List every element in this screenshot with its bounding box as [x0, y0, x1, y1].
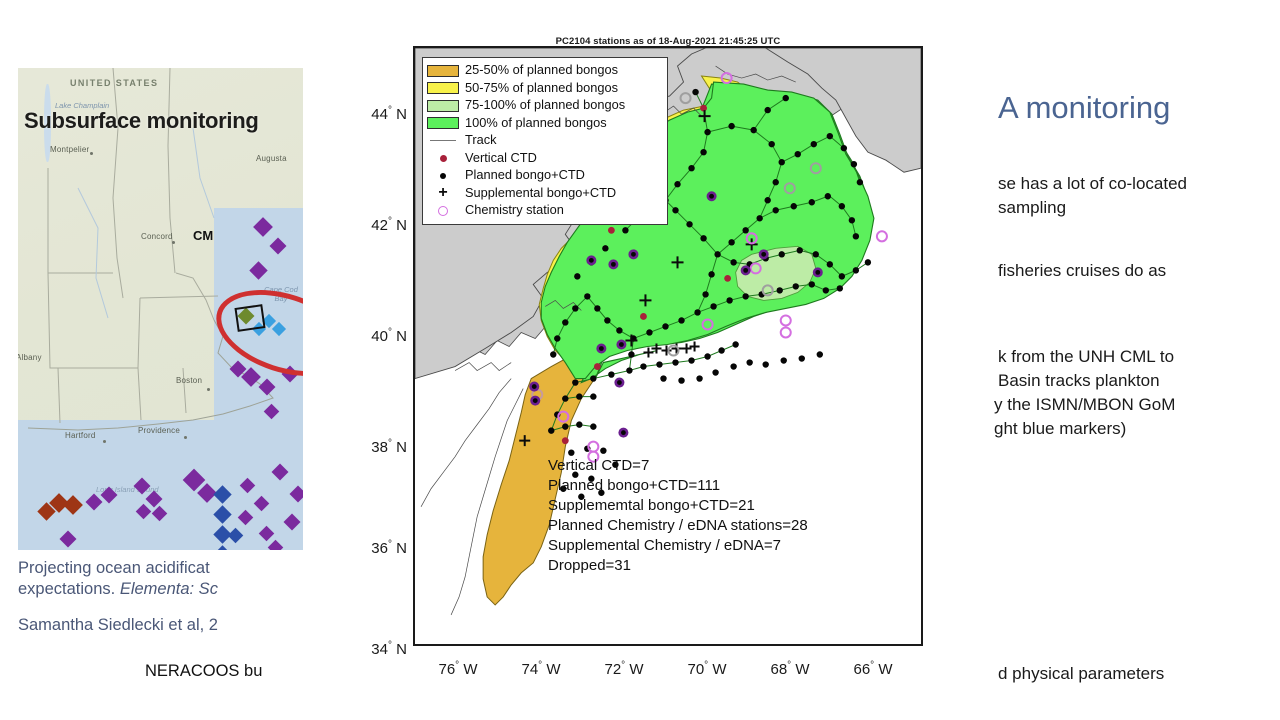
citydot-boston	[207, 388, 210, 391]
citydot-concord	[172, 241, 175, 244]
bullet-1-line-1: se has a lot of co-located	[998, 172, 1187, 196]
citydot-providence	[184, 436, 187, 439]
legend-row-patch: 25-50% of planned bongos	[427, 62, 662, 80]
legend-row-supplemental-bongo: + Supplemental bongo+CTD	[427, 185, 662, 203]
legend-swatch-50-75	[427, 82, 459, 94]
legend-row-patch: 100% of planned bongos	[427, 115, 662, 133]
left-caption-author: Samantha Siedlecki et al, 2	[18, 615, 300, 636]
plus-icon: +	[427, 189, 459, 197]
legend-row-patch: 50-75% of planned bongos	[427, 80, 662, 98]
label-city-providence: Providence	[138, 426, 180, 435]
bullet-2: fisheries cruises do as	[998, 259, 1166, 283]
legend-row-chemistry: Chemistry station	[427, 202, 662, 220]
latitude-axis: 44° N 42° N 40° N 38° N 36° N 34° N	[355, 46, 407, 646]
label-city-montpelier: Montpelier	[50, 145, 89, 154]
left-slide-panel: UNITED STATES Lake Champlain Cape Cod Ba…	[0, 0, 300, 720]
label-city-augusta: Augusta	[256, 154, 287, 163]
stat-line: Dropped=31	[548, 556, 808, 576]
stat-line: Supplememtal bongo+CTD=21	[548, 496, 808, 516]
y-tick-label: 42° N	[371, 216, 407, 234]
legend-label: Supplemental bongo+CTD	[465, 187, 616, 200]
caption-line-1: Projecting ocean acidificat	[18, 558, 300, 579]
legend-label: 75-100% of planned bongos	[465, 99, 625, 112]
legend-row-track: Track	[427, 132, 662, 150]
right-text-panel: A monitoring se has a lot of co-located …	[940, 0, 1280, 720]
left-footer-label: NERACOOS bu	[145, 662, 262, 681]
citydot-montpelier	[90, 152, 93, 155]
inset-map-title: Subsurface monitoring	[24, 108, 259, 134]
open-circle-icon	[427, 206, 459, 216]
stat-line: Planned bongo+CTD=111	[548, 476, 808, 496]
legend-label: Vertical CTD	[465, 152, 537, 165]
bullet-3-line-4: ght blue markers)	[988, 417, 1175, 441]
bullet-3: k from the UNH CML to Basin tracks plank…	[988, 345, 1175, 442]
bullet-3-line-2: Basin tracks plankton	[988, 369, 1175, 393]
stat-line: Supplemental Chemistry / eDNA=7	[548, 536, 808, 556]
x-tick-label: 74° W	[521, 660, 560, 678]
x-tick-label: 66° W	[853, 660, 892, 678]
inset-map-northeast[interactable]: UNITED STATES Lake Champlain Cape Cod Ba…	[18, 68, 303, 550]
legend-row-vertical-ctd: Vertical CTD	[427, 150, 662, 168]
caption-line-3: Samantha Siedlecki et al, 2	[18, 615, 300, 636]
line-icon	[427, 140, 459, 141]
station-map-figure[interactable]: 25-50% of planned bongos 50-75% of plann…	[413, 46, 923, 646]
legend-label: 25-50% of planned bongos	[465, 64, 618, 77]
label-city-albany: Albany	[18, 353, 42, 362]
left-caption-block: Projecting ocean acidificat expectations…	[18, 558, 300, 599]
station-count-summary: Vertical CTD=7 Planned bongo+CTD=111 Sup…	[548, 456, 808, 577]
label-united-states: UNITED STATES	[70, 78, 158, 88]
x-tick-label: 68° W	[770, 660, 809, 678]
y-tick-label: 40° N	[371, 327, 407, 345]
legend-row-planned-bongo: Planned bongo+CTD	[427, 167, 662, 185]
label-city-boston: Boston	[176, 376, 202, 385]
bullet-2-line-1: fisheries cruises do as	[998, 259, 1166, 283]
y-tick-label: 36° N	[371, 539, 407, 557]
black-dot-icon	[427, 173, 459, 179]
label-city-hartford: Hartford	[65, 431, 96, 440]
legend-label: Chemistry station	[465, 204, 564, 217]
legend-label: 50-75% of planned bongos	[465, 82, 618, 95]
bullet-3-line-3: y the ISMN/MBON GoM	[988, 393, 1175, 417]
bullet-1: se has a lot of co-located sampling	[998, 172, 1187, 220]
legend-swatch-25-50	[427, 65, 459, 77]
y-tick-label: 34° N	[371, 640, 407, 658]
legend-label: 100% of planned bongos	[465, 117, 607, 130]
legend-row-patch: 75-100% of planned bongos	[427, 97, 662, 115]
y-tick-label: 44° N	[371, 105, 407, 123]
stat-line: Planned Chemistry / eDNA stations=28	[548, 516, 808, 536]
caption-line-2: expectations. Elementa: Sc	[18, 579, 300, 600]
bullet-1-line-2: sampling	[998, 196, 1187, 220]
right-footer-text: d physical parameters	[998, 662, 1164, 686]
red-dot-icon	[427, 156, 459, 161]
map-legend[interactable]: 25-50% of planned bongos 50-75% of plann…	[422, 57, 668, 225]
stat-line: Vertical CTD=7	[548, 456, 808, 476]
longitude-axis: 76° W 74° W 72° W 70° W 68° W 66° W	[413, 660, 923, 684]
legend-swatch-100	[427, 117, 459, 129]
legend-swatch-75-100	[427, 100, 459, 112]
x-tick-label: 76° W	[438, 660, 477, 678]
caption-line-2-plain: expectations.	[18, 580, 120, 598]
caption-line-2-italic: Elementa: Sc	[120, 580, 218, 598]
x-tick-label: 70° W	[687, 660, 726, 678]
legend-label: Track	[465, 134, 497, 147]
map-plot-area[interactable]: 25-50% of planned bongos 50-75% of plann…	[415, 48, 921, 644]
slide-title: A monitoring	[998, 90, 1170, 126]
legend-label: Planned bongo+CTD	[465, 169, 585, 182]
citydot-hartford	[103, 440, 106, 443]
y-tick-label: 38° N	[371, 438, 407, 456]
x-tick-label: 72° W	[604, 660, 643, 678]
bullet-3-line-1: k from the UNH CML to	[988, 345, 1175, 369]
cm-label: CM	[193, 228, 213, 243]
label-city-concord: Concord	[141, 232, 173, 241]
